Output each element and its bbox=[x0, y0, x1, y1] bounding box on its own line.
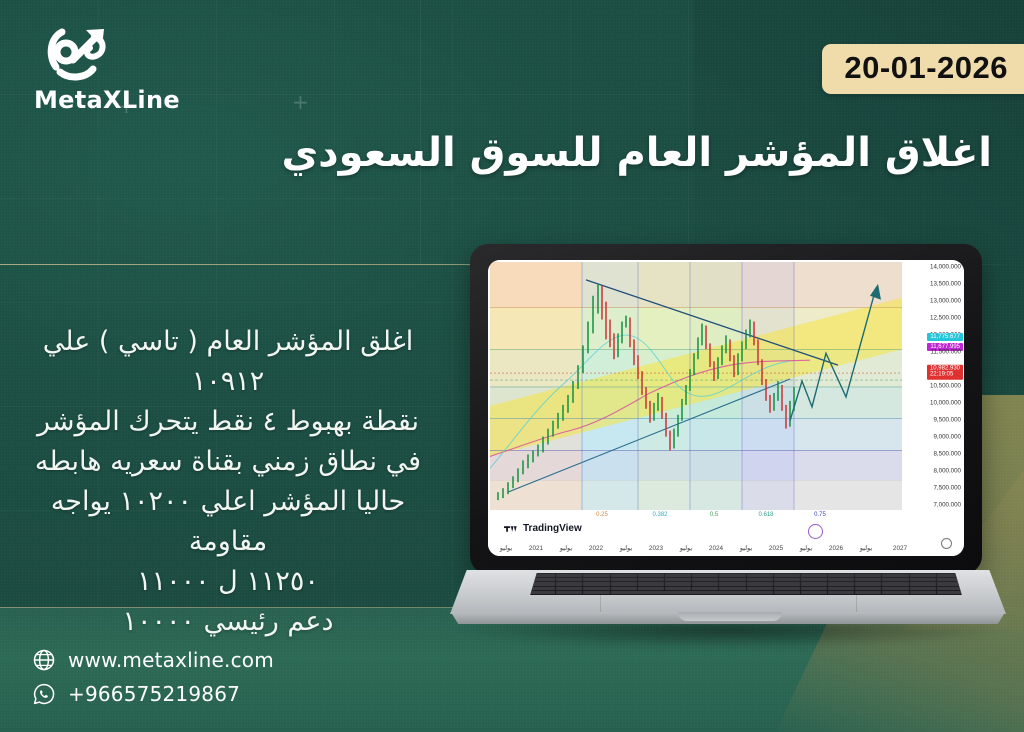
fib-label: 0.75 bbox=[814, 512, 826, 518]
time-tick: يوليو bbox=[740, 544, 752, 552]
price-tick: 10,000.000 bbox=[930, 400, 961, 407]
time-tick: يوليو bbox=[860, 544, 872, 552]
price-tick: 9,000.000 bbox=[933, 434, 961, 441]
keyboard-row bbox=[529, 591, 963, 594]
circular-arrow-growth-icon bbox=[40, 22, 118, 84]
analysis-line: ١١٢٥٠ ل ١١٠٠٠ bbox=[18, 562, 438, 602]
whatsapp-icon bbox=[32, 682, 56, 706]
price-tick: 8,500.000 bbox=[933, 451, 961, 458]
analysis-text: اغلق المؤشر العام ( تاسي ) علي ١٠٩١٢ نقط… bbox=[18, 322, 438, 642]
chart-time-scale[interactable]: 0.25 0.382 0.5 0.618 0.75 bbox=[490, 510, 962, 556]
price-tick: 7,500.000 bbox=[933, 485, 961, 492]
plus-marker-icon: + bbox=[292, 92, 309, 112]
time-tick: 2026 bbox=[829, 545, 843, 552]
time-tick: 2023 bbox=[649, 545, 663, 552]
time-tick: 2027 bbox=[893, 545, 907, 552]
time-tick: يوليو bbox=[620, 544, 632, 552]
time-tick: 2024 bbox=[709, 545, 723, 552]
tradingview-mark-icon bbox=[504, 524, 519, 534]
fib-label: 0.618 bbox=[758, 512, 773, 518]
price-tick: 9,500.000 bbox=[933, 417, 961, 424]
fib-label: 0.25 bbox=[596, 512, 608, 518]
contact-website[interactable]: www.metaxline.com bbox=[32, 648, 274, 672]
price-tick: 12,500.000 bbox=[930, 315, 961, 322]
price-tick: 14,000.000 bbox=[930, 264, 961, 271]
time-tick: 2025 bbox=[769, 545, 783, 552]
analysis-line: اغلق المؤشر العام ( تاسي ) علي ١٠٩١٢ bbox=[18, 322, 438, 402]
keyboard-row bbox=[529, 578, 963, 581]
time-tick: 2021 bbox=[529, 545, 543, 552]
contact-phone[interactable]: +966575219867 bbox=[32, 682, 274, 706]
trackpad-edge bbox=[856, 594, 857, 614]
keyboard-row bbox=[529, 574, 963, 577]
price-tick: 11,500.000 bbox=[930, 349, 961, 356]
time-tick: يوليو bbox=[800, 544, 812, 552]
laptop-deck bbox=[450, 570, 1006, 614]
keyboard[interactable] bbox=[528, 573, 964, 595]
globe-icon bbox=[32, 648, 56, 672]
laptop-lid: 14,000.000 13,500.000 13,000.000 12,500.… bbox=[470, 244, 982, 574]
analysis-line: في نطاق زمني بقناة سعريه هابطه bbox=[18, 442, 438, 482]
trackpad-edge bbox=[600, 594, 601, 614]
price-tick: 8,000.000 bbox=[933, 468, 961, 475]
chart-plot-area[interactable] bbox=[490, 262, 902, 510]
fib-label: 0.382 bbox=[652, 512, 667, 518]
analysis-line: حاليا المؤشر اعلي ١٠٢٠٠ يواجه مقاومة bbox=[18, 482, 438, 562]
chart-price-scale[interactable]: 14,000.000 13,500.000 13,000.000 12,500.… bbox=[902, 262, 964, 510]
brand-logo: MetaXLine bbox=[34, 22, 164, 114]
tradingview-logo: TradingView bbox=[504, 523, 582, 534]
time-tick: يوليو bbox=[560, 544, 572, 552]
price-tick: 7,000.000 bbox=[933, 502, 961, 509]
tradingview-chart[interactable]: 14,000.000 13,500.000 13,000.000 12,500.… bbox=[488, 260, 964, 556]
date-badge: 20-01-2026 bbox=[822, 44, 1024, 94]
laptop-screen: 14,000.000 13,500.000 13,000.000 12,500.… bbox=[488, 260, 964, 556]
laptop-base bbox=[432, 570, 1024, 630]
price-badge-last: 10,982.930 22:19:05 bbox=[927, 365, 963, 380]
laptop-mockup: 14,000.000 13,500.000 13,000.000 12,500.… bbox=[432, 244, 1024, 664]
price-tick: 13,500.000 bbox=[930, 281, 961, 288]
keyboard-row bbox=[529, 582, 963, 585]
brand-wordmark: MetaXLine bbox=[34, 86, 164, 114]
price-badge-cyan: 11,775.677 bbox=[927, 333, 963, 341]
laptop-open-notch bbox=[678, 612, 782, 621]
contact-block: www.metaxline.com +966575219867 bbox=[32, 648, 274, 716]
keyboard-row bbox=[529, 587, 963, 590]
price-tick: 13,000.000 bbox=[930, 298, 961, 305]
chart-close-icon[interactable] bbox=[941, 538, 952, 549]
price-tick: 10,500.000 bbox=[930, 383, 961, 390]
tradingview-label: TradingView bbox=[523, 523, 582, 534]
time-tick: يوليو bbox=[680, 544, 692, 552]
time-tick: 2022 bbox=[589, 545, 603, 552]
time-tick: يوليو bbox=[500, 544, 512, 552]
chart-status-icon[interactable] bbox=[808, 524, 823, 539]
page-title: اغلاق المؤشر العام للسوق السعودي bbox=[232, 128, 992, 178]
analysis-line: نقطة بهبوط ٤ نقط يتحرك المؤشر bbox=[18, 402, 438, 442]
last-price: 10,982.930 bbox=[930, 366, 960, 372]
phone-text: +966575219867 bbox=[68, 682, 240, 706]
poster-canvas: + + MetaXLine 20-01-2026 اغلاق المؤشر ال… bbox=[0, 0, 1024, 732]
last-price-time: 22:19:05 bbox=[930, 372, 953, 378]
fib-label: 0.5 bbox=[710, 512, 718, 518]
analysis-line: دعم رئيسي ١٠٠٠٠ bbox=[18, 602, 438, 642]
website-text: www.metaxline.com bbox=[68, 648, 274, 672]
